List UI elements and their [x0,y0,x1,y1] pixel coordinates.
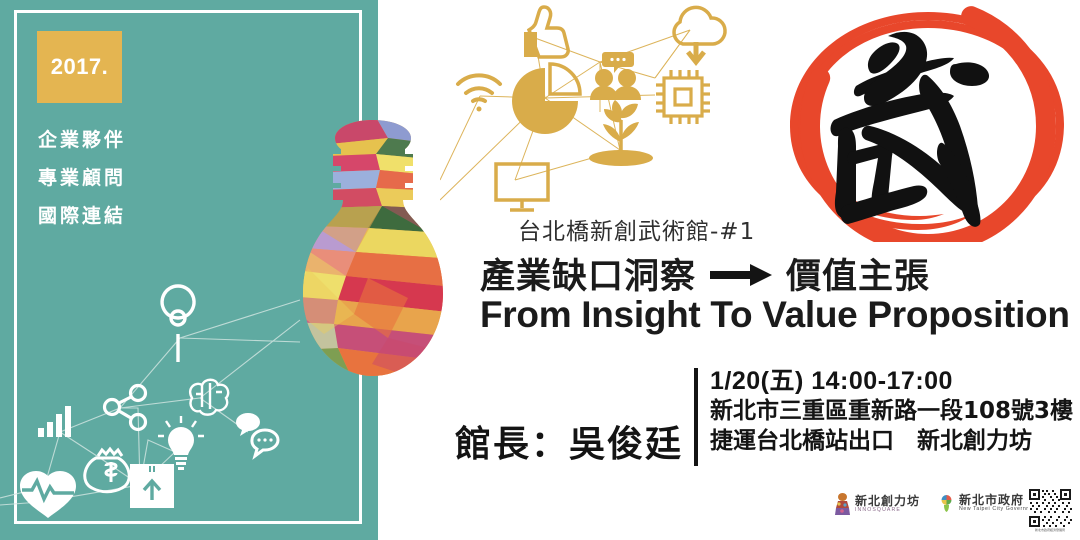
thumbs-up-icon [524,7,568,57]
ntpc-emblem-icon [938,493,955,513]
detail-divider [694,368,698,466]
sidebar-tagline-consultant: 專業顧問 [38,163,126,190]
event-details: 1/20(五) 14:00-17:00 新北市三重區重新路一段108號3樓 捷運… [710,366,1060,457]
tech-icon-network [440,0,780,220]
wifi-icon [458,75,500,111]
event-address: 新北市三重區重新路一段108號3樓 [710,397,1060,427]
innosquare-logo-en: INNOSQUARE [855,507,920,513]
headline-chinese: 產業缺口洞察 價值主張 [480,248,930,299]
monitor-icon [496,164,548,210]
sidebar-tagline-partner: 企業夥伴 [38,125,126,152]
sidebar-glyphs [20,286,278,518]
qr-caption: 新北市政府經濟發展局 [1028,528,1072,532]
package-upload-icon [130,464,174,508]
martial-arts-seal [778,2,1078,242]
chat-bubbles-icon [236,413,278,456]
new-taipei-city-government-logo: 新北市政府 New Taipei City Government [938,493,1040,513]
brain-icon [190,380,228,415]
headline-english: From Insight To Value Proposition [480,294,1070,336]
headline-cn-right: 價值主張 [786,248,930,299]
people-talking-icon [590,52,641,100]
innosquare-logo: 新北創力坊 INNOSQUARE [834,492,920,516]
wu-character [831,32,990,227]
year-badge-label: 2017. [51,54,109,80]
year-badge: 2017. [37,31,122,103]
event-subtitle: 台北橋新創武術館-#1 [518,212,755,246]
event-poster: 2017. 企業夥伴 專業顧問 國際連結 [0,0,1080,540]
innosquare-logo-cn: 新北創力坊 [855,495,920,508]
heartbeat-icon [20,471,76,518]
location-pin-icon [162,286,194,362]
cloud-download-icon [674,7,725,62]
speaker-name: 館長：吳俊廷 [455,415,683,467]
arrow-right-icon [710,263,772,287]
innosquare-mark-icon [834,492,851,516]
sprout-plant-icon [589,100,653,166]
sidebar-tagline-international: 國際連結 [38,201,126,228]
bar-chart-icon [38,406,71,437]
cpu-chip-icon [656,70,710,124]
event-transport: 捷運台北橋站出口 新北創力坊 [710,427,1060,457]
footer-logos: 新北創力坊 INNOSQUARE 新北市政府 New Taipei City G… [826,488,1076,536]
money-bag-icon [85,449,129,492]
headline-cn-left: 產業缺口洞察 [480,248,696,299]
event-datetime: 1/20(五) 14:00-17:00 [710,366,1060,397]
